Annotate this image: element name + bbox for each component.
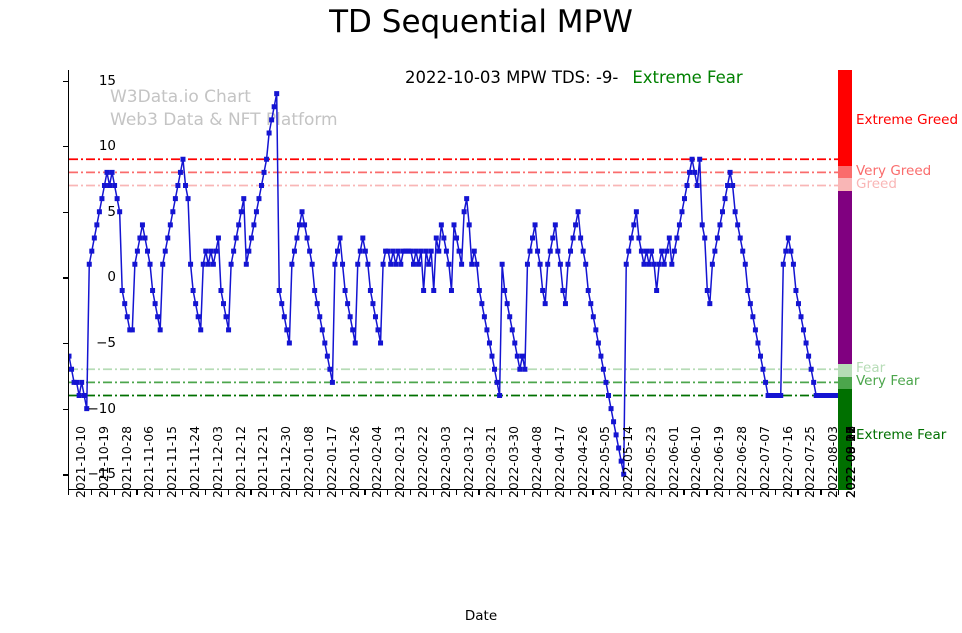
- data-point: [444, 249, 449, 254]
- data-point: [165, 236, 170, 241]
- data-point: [576, 209, 581, 214]
- x-axis-tick-label: 2022-02-22: [415, 426, 430, 498]
- data-point: [376, 327, 381, 332]
- data-point: [479, 301, 484, 306]
- data-point: [264, 157, 269, 162]
- data-point: [674, 236, 679, 241]
- data-point: [477, 288, 482, 293]
- data-point: [358, 249, 363, 254]
- data-point: [495, 380, 500, 385]
- data-point: [426, 262, 431, 267]
- data-point: [781, 262, 786, 267]
- x-axis-tick-label: 2022-02-13: [392, 426, 407, 498]
- data-series-line: [69, 94, 839, 475]
- data-point: [163, 249, 168, 254]
- data-point: [393, 262, 398, 267]
- chart-canvas: TD Sequential MPW 2022-10-03 MPW TDS: -9…: [0, 0, 962, 633]
- data-point: [606, 393, 611, 398]
- x-axis-tick-mark: [228, 490, 229, 495]
- data-point: [783, 249, 788, 254]
- data-point: [213, 249, 218, 254]
- data-point: [626, 249, 631, 254]
- data-point: [687, 170, 692, 175]
- data-point: [148, 262, 153, 267]
- data-point: [262, 170, 267, 175]
- x-axis-tick-label: 2022-04-08: [529, 426, 544, 498]
- data-point: [239, 209, 244, 214]
- data-point: [598, 354, 603, 359]
- x-axis-tick-label: 2022-05-14: [620, 426, 635, 498]
- data-point: [793, 288, 798, 293]
- x-axis-tick-label: 2022-04-17: [552, 426, 567, 498]
- data-point: [611, 419, 616, 424]
- x-axis-tick-label: 2022-01-08: [301, 426, 316, 498]
- data-point: [345, 301, 350, 306]
- data-point: [796, 301, 801, 306]
- data-point: [505, 301, 510, 306]
- data-point: [662, 262, 667, 267]
- data-point: [601, 367, 606, 372]
- x-axis-tick-label: 2021-10-28: [119, 426, 134, 498]
- data-point: [462, 209, 467, 214]
- data-point: [679, 209, 684, 214]
- data-point: [507, 314, 512, 319]
- data-point: [439, 222, 444, 227]
- data-point: [335, 249, 340, 254]
- data-point: [145, 249, 150, 254]
- x-axis-tick-mark: [592, 490, 593, 495]
- x-axis-tick-label: 2022-05-23: [643, 426, 658, 498]
- y-axis-tick-mark: [63, 343, 68, 344]
- data-point: [196, 314, 201, 319]
- data-point: [102, 183, 107, 188]
- data-point: [434, 236, 439, 241]
- data-point: [117, 209, 122, 214]
- data-point: [82, 393, 87, 398]
- data-point: [515, 354, 520, 359]
- data-point: [586, 288, 591, 293]
- data-point: [705, 288, 710, 293]
- x-axis-tick-mark: [706, 490, 707, 495]
- data-point: [94, 222, 99, 227]
- x-axis-tick-mark: [342, 490, 343, 495]
- data-point: [750, 314, 755, 319]
- data-point: [636, 236, 641, 241]
- data-point: [545, 262, 550, 267]
- data-point: [603, 380, 608, 385]
- data-point: [325, 354, 330, 359]
- data-point: [183, 183, 188, 188]
- data-point: [715, 236, 720, 241]
- data-point: [652, 262, 657, 267]
- data-point: [315, 301, 320, 306]
- y-axis-tick-label: 5: [107, 204, 116, 220]
- data-point: [110, 170, 115, 175]
- y-axis-tick-mark: [63, 81, 68, 82]
- x-axis-tick-label: 2021-12-03: [210, 426, 225, 498]
- data-point: [748, 301, 753, 306]
- data-point: [269, 117, 274, 122]
- data-point: [667, 236, 672, 241]
- x-axis-tick-mark: [205, 490, 206, 495]
- data-point: [160, 262, 165, 267]
- data-point: [79, 380, 84, 385]
- data-point: [104, 170, 109, 175]
- x-axis-tick-mark: [615, 490, 616, 495]
- x-axis-tick-mark: [683, 490, 684, 495]
- data-point: [193, 301, 198, 306]
- data-point: [550, 236, 555, 241]
- data-point: [702, 236, 707, 241]
- data-point: [527, 249, 532, 254]
- data-point: [641, 262, 646, 267]
- data-point: [256, 196, 261, 201]
- x-axis-tick-mark: [729, 490, 730, 495]
- data-point: [548, 249, 553, 254]
- data-point: [492, 367, 497, 372]
- data-point: [327, 367, 332, 372]
- data-point: [305, 236, 310, 241]
- y-axis-tick-label: 10: [99, 138, 116, 154]
- data-point: [743, 262, 748, 267]
- data-point: [786, 236, 791, 241]
- data-point: [188, 262, 193, 267]
- data-point: [155, 314, 160, 319]
- data-point: [236, 222, 241, 227]
- data-point: [112, 183, 117, 188]
- data-point: [778, 393, 783, 398]
- data-point: [99, 196, 104, 201]
- data-point: [231, 249, 236, 254]
- data-point: [535, 249, 540, 254]
- x-axis-tick-label: 2022-06-28: [734, 426, 749, 498]
- x-axis-tick-mark: [433, 490, 434, 495]
- data-point: [436, 249, 441, 254]
- x-axis-tick-label: 2021-11-15: [164, 426, 179, 498]
- data-point: [120, 288, 125, 293]
- data-point: [292, 249, 297, 254]
- data-point: [578, 236, 583, 241]
- data-point: [132, 262, 137, 267]
- data-point: [446, 262, 451, 267]
- data-point: [246, 249, 251, 254]
- data-point: [297, 222, 302, 227]
- x-axis-tick-mark: [273, 490, 274, 495]
- data-point: [682, 196, 687, 201]
- data-point: [378, 341, 383, 346]
- x-axis-tick-label: 2022-03-21: [483, 426, 498, 498]
- x-axis-tick-label: 2021-12-30: [278, 426, 293, 498]
- data-point: [441, 236, 446, 241]
- data-point: [565, 262, 570, 267]
- x-axis-tick-mark: [319, 490, 320, 495]
- data-point: [799, 314, 804, 319]
- data-point: [464, 196, 469, 201]
- y-axis-tick-mark: [63, 409, 68, 410]
- data-point: [502, 288, 507, 293]
- data-point: [489, 354, 494, 359]
- data-point: [634, 209, 639, 214]
- y-axis-label: MPW TDS: [0, 180, 4, 245]
- data-point: [289, 262, 294, 267]
- data-point: [467, 222, 472, 227]
- data-point: [381, 262, 386, 267]
- data-point: [763, 380, 768, 385]
- data-point: [244, 262, 249, 267]
- x-axis-tick-label: 2021-10-10: [73, 426, 88, 498]
- data-point: [251, 222, 256, 227]
- x-axis-tick-mark: [250, 490, 251, 495]
- x-axis-tick-label: 2022-05-05: [597, 426, 612, 498]
- data-point: [170, 209, 175, 214]
- colorbar-segment: [838, 377, 852, 389]
- data-point: [122, 301, 127, 306]
- data-point: [484, 327, 489, 332]
- x-axis-tick-mark: [91, 490, 92, 495]
- data-point: [398, 262, 403, 267]
- data-point: [300, 209, 305, 214]
- y-axis-tick-label: 15: [99, 73, 116, 89]
- data-point: [365, 262, 370, 267]
- x-axis-tick-mark: [182, 490, 183, 495]
- data-point: [758, 354, 763, 359]
- data-point: [725, 183, 730, 188]
- x-axis-tick-mark: [478, 490, 479, 495]
- x-axis-tick-mark: [296, 490, 297, 495]
- x-axis-tick-label: 2022-07-07: [757, 426, 772, 498]
- data-point: [520, 354, 525, 359]
- data-point: [695, 183, 700, 188]
- x-axis-tick-mark: [136, 490, 137, 495]
- data-point: [538, 262, 543, 267]
- x-axis-tick-mark: [159, 490, 160, 495]
- colorbar-segment: [838, 364, 852, 377]
- data-point: [386, 249, 391, 254]
- x-axis-tick-label: 2022-03-12: [461, 426, 476, 498]
- data-point: [201, 262, 206, 267]
- x-axis-tick-mark: [570, 490, 571, 495]
- x-axis-tick-mark: [638, 490, 639, 495]
- data-point: [294, 236, 299, 241]
- data-point: [811, 380, 816, 385]
- data-point: [69, 354, 72, 359]
- x-axis-tick-mark: [838, 490, 839, 495]
- colorbar-label: Very Fear: [856, 373, 919, 389]
- data-point: [712, 249, 717, 254]
- data-point: [540, 288, 545, 293]
- data-point: [419, 249, 424, 254]
- data-point: [277, 288, 282, 293]
- data-point: [788, 249, 793, 254]
- data-point: [553, 222, 558, 227]
- x-axis-tick-mark: [501, 490, 502, 495]
- data-point: [302, 222, 307, 227]
- data-point: [809, 367, 814, 372]
- data-point: [560, 288, 565, 293]
- data-point: [229, 262, 234, 267]
- data-point: [530, 236, 535, 241]
- x-axis-tick-label: 2022-08-03: [825, 426, 840, 498]
- colorbar-label: Greed: [856, 176, 897, 192]
- data-point: [733, 209, 738, 214]
- data-point: [350, 327, 355, 332]
- data-point: [226, 327, 231, 332]
- data-point: [107, 183, 112, 188]
- data-point: [322, 341, 327, 346]
- data-point: [343, 288, 348, 293]
- x-axis-tick-label: 2022-01-26: [347, 426, 362, 498]
- data-point: [135, 249, 140, 254]
- data-point: [388, 262, 393, 267]
- data-point: [89, 249, 94, 254]
- data-point: [198, 327, 203, 332]
- x-axis-tick-mark: [68, 490, 69, 495]
- data-point: [738, 236, 743, 241]
- data-point: [142, 236, 147, 241]
- data-point: [596, 341, 601, 346]
- data-point: [429, 249, 434, 254]
- data-point: [517, 367, 522, 372]
- data-point: [644, 249, 649, 254]
- data-point: [723, 196, 728, 201]
- data-point: [522, 367, 527, 372]
- data-point: [125, 314, 130, 319]
- data-point: [284, 327, 289, 332]
- data-point: [414, 249, 419, 254]
- data-point: [573, 222, 578, 227]
- data-point: [218, 288, 223, 293]
- data-point: [310, 262, 315, 267]
- data-point: [150, 288, 155, 293]
- data-point: [804, 341, 809, 346]
- data-point: [457, 249, 462, 254]
- y-axis-tick-label: −10: [88, 401, 117, 417]
- data-point: [221, 301, 226, 306]
- x-axis-tick-mark: [661, 490, 662, 495]
- data-point: [761, 367, 766, 372]
- data-point: [690, 157, 695, 162]
- data-point: [408, 249, 413, 254]
- data-point: [791, 262, 796, 267]
- x-axis-tick-label: 2022-06-10: [688, 426, 703, 498]
- x-axis-tick-label: 2022-06-01: [666, 426, 681, 498]
- data-point: [558, 262, 563, 267]
- data-point: [487, 341, 492, 346]
- data-point: [391, 249, 396, 254]
- data-point: [234, 236, 239, 241]
- data-point: [624, 262, 629, 267]
- data-point: [555, 249, 560, 254]
- data-point: [593, 327, 598, 332]
- data-point: [353, 341, 358, 346]
- data-point: [137, 236, 142, 241]
- x-axis-tick-mark: [387, 490, 388, 495]
- data-point: [659, 249, 664, 254]
- x-axis-tick-mark: [752, 490, 753, 495]
- data-point: [416, 262, 421, 267]
- data-point: [497, 393, 502, 398]
- data-point: [208, 249, 213, 254]
- data-point: [130, 327, 135, 332]
- data-point: [317, 314, 322, 319]
- data-point: [745, 288, 750, 293]
- data-point: [211, 262, 216, 267]
- data-point: [469, 262, 474, 267]
- x-axis-tick-label: 2021-10-19: [96, 426, 111, 498]
- data-point: [216, 236, 221, 241]
- data-point: [175, 183, 180, 188]
- y-axis-tick-mark: [63, 146, 68, 147]
- x-axis-tick-label: 2022-07-25: [802, 426, 817, 498]
- x-axis-tick-mark: [114, 490, 115, 495]
- data-point: [355, 262, 360, 267]
- data-point: [452, 222, 457, 227]
- y-axis-tick-mark: [63, 277, 68, 278]
- data-point: [340, 262, 345, 267]
- y-axis-tick-label: 0: [107, 269, 116, 285]
- x-axis-tick-label: 2022-06-19: [711, 426, 726, 498]
- data-point: [368, 288, 373, 293]
- data-point: [735, 222, 740, 227]
- data-point: [272, 104, 277, 109]
- data-point: [728, 170, 733, 175]
- data-point: [249, 236, 254, 241]
- data-point: [396, 249, 401, 254]
- data-point: [224, 314, 229, 319]
- data-point: [755, 341, 760, 346]
- data-point: [563, 301, 568, 306]
- data-point: [685, 183, 690, 188]
- data-point: [720, 209, 725, 214]
- x-axis-tick-label: 2022-03-30: [506, 426, 521, 498]
- x-axis-tick-label: 2021-11-24: [187, 426, 202, 498]
- colorbar-label: Extreme Fear: [856, 427, 946, 443]
- data-point: [348, 314, 353, 319]
- data-point: [267, 131, 272, 136]
- data-point: [87, 262, 92, 267]
- colorbar-segment: [838, 191, 852, 364]
- data-point: [168, 222, 173, 227]
- data-point: [153, 301, 158, 306]
- data-point: [525, 262, 530, 267]
- data-point: [472, 249, 477, 254]
- data-point: [664, 249, 669, 254]
- y-axis-tick-mark: [63, 474, 68, 475]
- y-axis-tick-mark: [63, 212, 68, 213]
- x-axis-tick-label: 2021-12-12: [233, 426, 248, 498]
- data-point: [717, 222, 722, 227]
- data-point: [186, 196, 191, 201]
- data-point: [740, 249, 745, 254]
- data-point: [320, 327, 325, 332]
- x-axis-tick-label: 2021-12-21: [255, 426, 270, 498]
- x-axis-tick-mark: [547, 490, 548, 495]
- data-point: [672, 249, 677, 254]
- page-title: TD Sequential MPW: [0, 4, 962, 40]
- x-axis-tick-mark: [524, 490, 525, 495]
- data-point: [282, 314, 287, 319]
- data-point: [581, 249, 586, 254]
- data-point: [609, 406, 614, 411]
- data-point: [707, 301, 712, 306]
- x-axis-tick-label: 2022-01-17: [324, 426, 339, 498]
- data-point: [449, 288, 454, 293]
- data-point: [806, 354, 811, 359]
- data-point: [568, 249, 573, 254]
- x-axis-tick-mark: [820, 490, 821, 495]
- data-point-markers: [69, 91, 839, 477]
- data-point: [591, 314, 596, 319]
